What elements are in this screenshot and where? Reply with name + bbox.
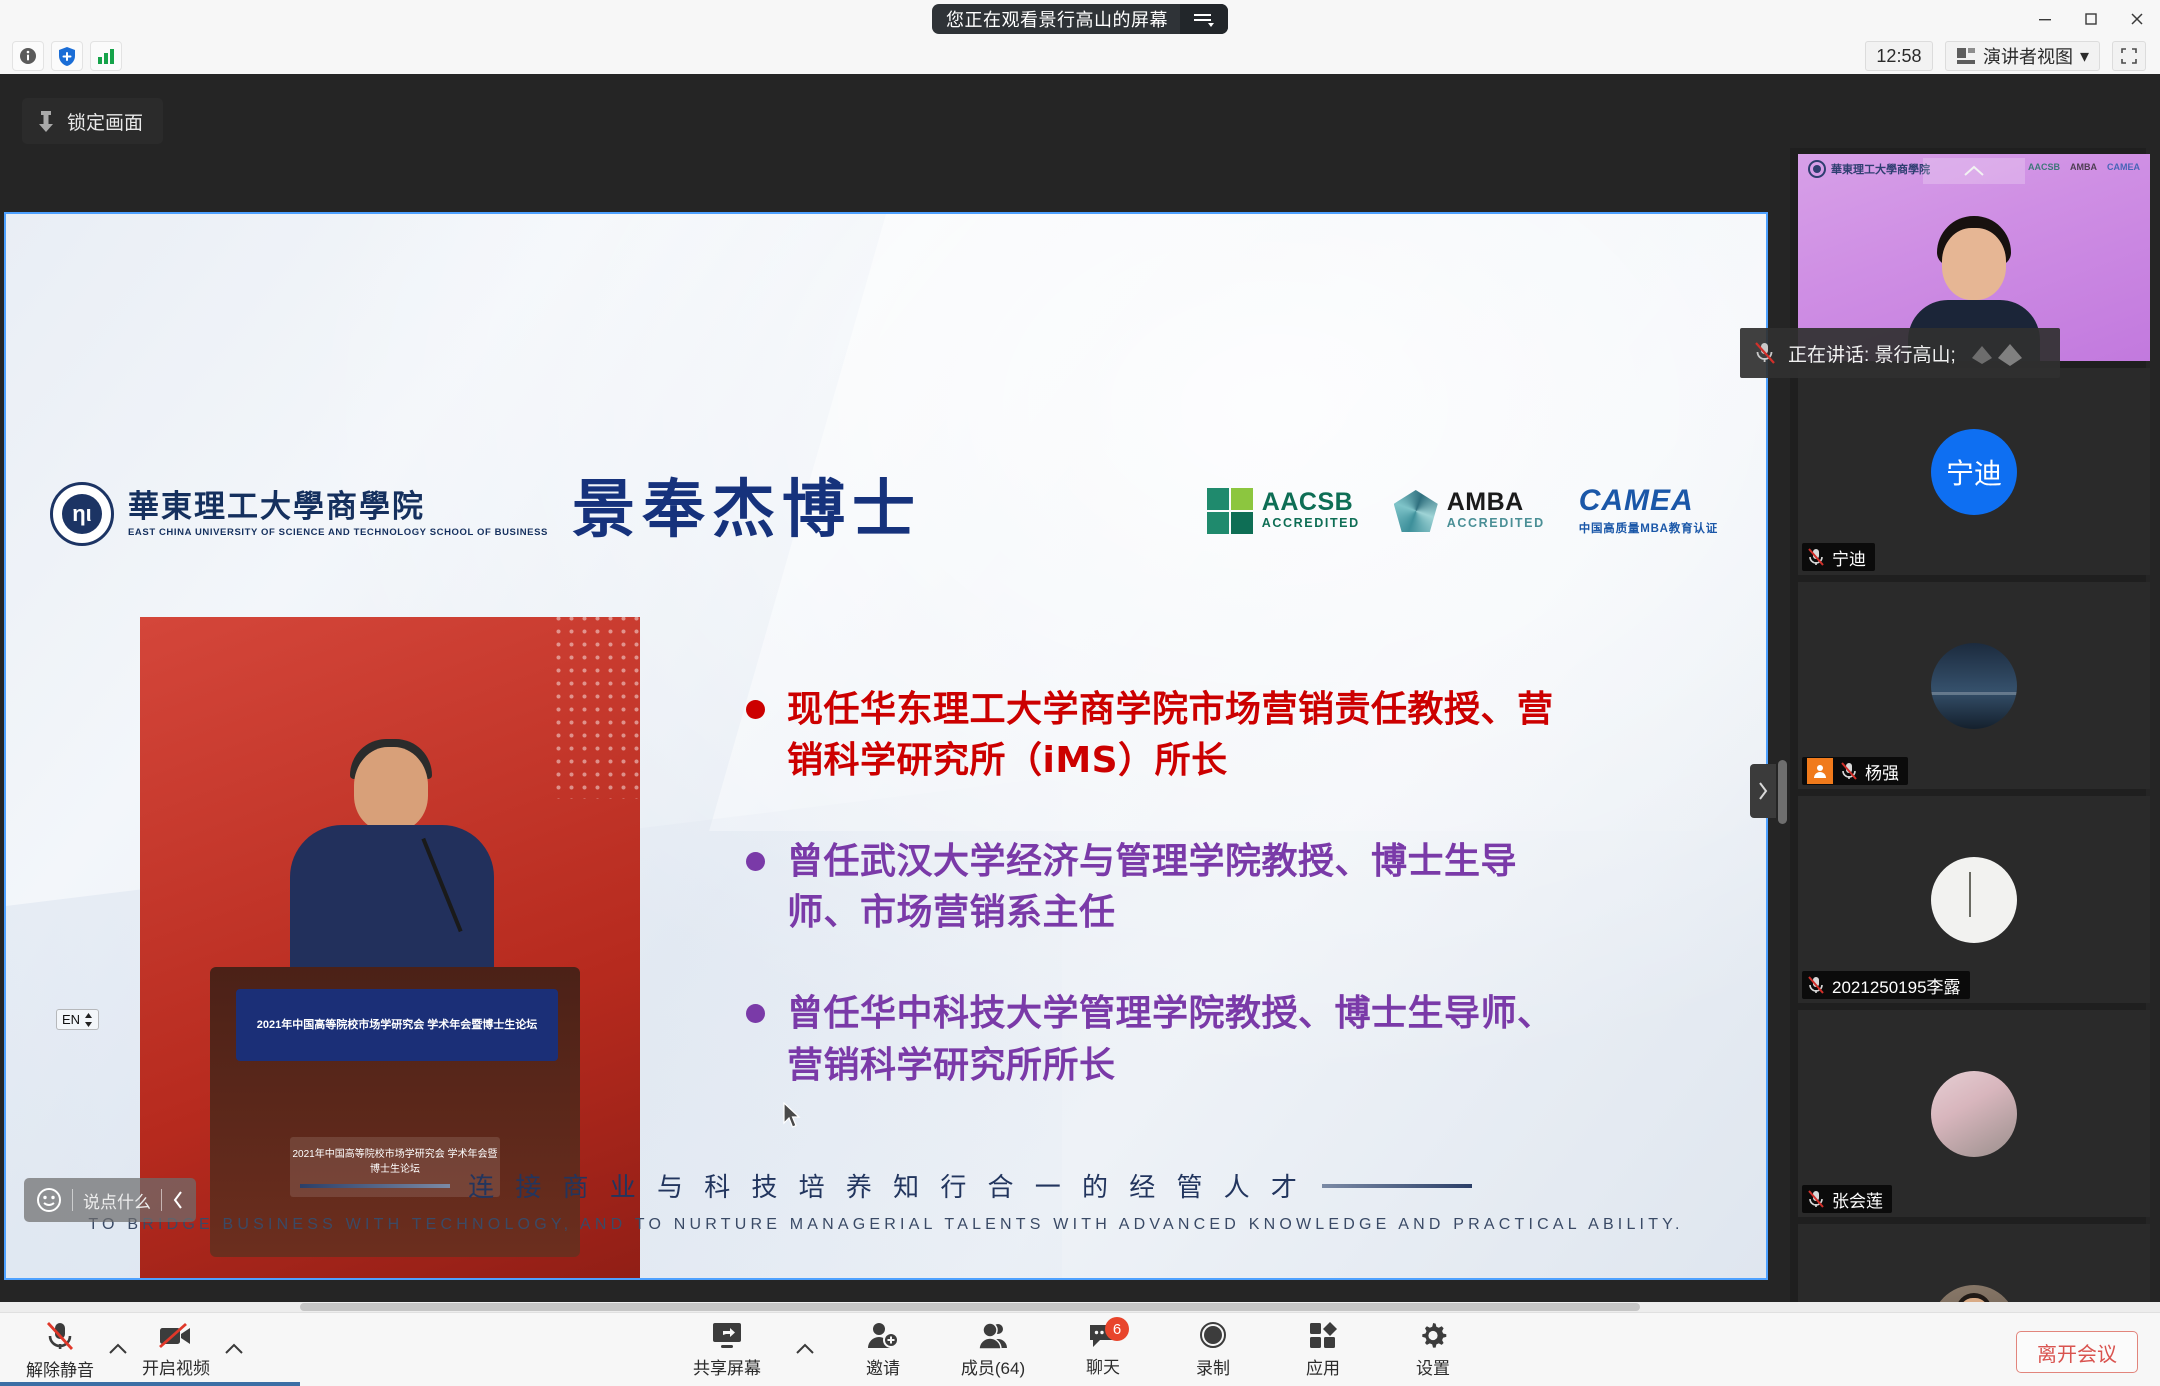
leave-meeting-label: 离开会议 (2037, 1338, 2117, 1367)
shield-plus-icon[interactable] (51, 41, 83, 71)
hamburger-menu-icon[interactable] (1180, 4, 1228, 34)
window-controls (2022, 0, 2160, 38)
chevron-left-icon (172, 1190, 184, 1210)
info-icon[interactable] (12, 41, 44, 71)
participant-namebar: 张会莲 (1802, 1185, 1892, 1213)
aacsb-mark-icon (1207, 488, 1253, 534)
amba-mark-icon (1394, 490, 1438, 532)
microphone-muted-icon (1807, 1189, 1825, 1209)
ime-language-indicator[interactable]: EN (56, 1009, 99, 1030)
vertical-scrollbar-thumb[interactable] (1778, 760, 1787, 824)
bullet-text: 曾任武汉大学经济与管理学院教授、博士生导师、市场营销系主任 (787, 836, 1566, 938)
amba-name: AMBA (1447, 490, 1545, 515)
chevron-down-icon[interactable]: ▾ (2080, 46, 2089, 67)
lock-screen-button[interactable]: 锁定画面 (22, 98, 163, 144)
school-logo: ηι 華東理工大學商學院 EAST CHINA UNIVERSITY OF SC… (50, 482, 548, 546)
start-video-button[interactable]: 开启视频 (134, 1315, 218, 1385)
fullscreen-icon[interactable] (2112, 41, 2146, 71)
presentation-slide: ηι 華東理工大學商學院 EAST CHINA UNIVERSITY OF SC… (6, 214, 1766, 1278)
chat-divider (72, 1189, 73, 1211)
amba-sub: ACCREDITED (1447, 515, 1545, 533)
slide-footer-cn-row: 连 接 商 业 与 科 技 培 养 知 行 合 一 的 经 管 人 才 (6, 1167, 1766, 1204)
chat-input-overlay[interactable]: 说点什么 (24, 1178, 196, 1222)
lock-screen-label: 锁定画面 (67, 108, 143, 135)
person-icon (1812, 763, 1828, 779)
slide-title: 景奉杰博士 (572, 459, 922, 550)
microphone-muted-icon (1840, 761, 1858, 781)
maximize-icon[interactable] (2068, 0, 2114, 38)
audio-wave-icon (1968, 340, 2038, 366)
participants-label: 成员(64) (961, 1354, 1025, 1379)
apps-icon (1307, 1321, 1339, 1351)
camea-name: CAMEA (1579, 486, 1718, 516)
participant-name: 杨强 (1865, 759, 1899, 784)
avatar-initials: 宁迪 (1946, 452, 2002, 492)
photo-person-head (354, 747, 428, 831)
view-mode-label: 演讲者视图 (1983, 43, 2073, 69)
control-bar-left: 解除静音 开启视频 (18, 1313, 244, 1386)
slide-bullet-item: 曾任华中科技大学管理学院教授、博士生导师、营销科学研究所所长 (746, 988, 1566, 1090)
record-button[interactable]: 录制 (1171, 1315, 1255, 1385)
horizontal-scrollbar[interactable] (0, 1302, 2160, 1312)
ime-updown-icon (84, 1013, 93, 1027)
toolbar-left-icons (12, 41, 122, 71)
school-name-cn: 華東理工大學商學院 (128, 490, 548, 524)
invite-label: 邀请 (866, 1354, 900, 1379)
chevron-up-icon[interactable] (1923, 158, 2025, 184)
slide-footer-en: TO BRIDGE BUSINESS WITH TECHNOLOGY, AND … (6, 1216, 1766, 1234)
active-speaker-text: 正在讲话: 景行高山; (1788, 340, 1956, 367)
avatar-image-blossom (1931, 1071, 2017, 1157)
participants-button[interactable]: 成员(64) (951, 1315, 1035, 1385)
participant-name: 宁迪 (1832, 545, 1866, 570)
apps-label: 应用 (1306, 1354, 1340, 1379)
chat-button[interactable]: 6 聊天 (1061, 1315, 1145, 1385)
active-speaker-tooltip: 正在讲话: 景行高山; (1740, 328, 2060, 378)
chat-input[interactable]: 说点什么 (83, 1188, 151, 1213)
photo-dot-pattern (552, 617, 640, 799)
unmute-button[interactable]: 解除静音 (18, 1315, 102, 1385)
settings-button[interactable]: 设置 (1391, 1315, 1475, 1385)
aacsb-name: AACSB (1262, 490, 1360, 515)
avatar (1931, 857, 2017, 943)
share-screen-button[interactable]: 共享屏幕 (685, 1315, 769, 1385)
video-bg-accreditations: AACSB AMBA CAMEA (2028, 162, 2140, 172)
avatar-image-horizon (1931, 692, 2017, 695)
avatar: 宁迪 (1931, 429, 2017, 515)
participant-name: 张会莲 (1832, 1187, 1883, 1212)
leave-meeting-button[interactable]: 离开会议 (2016, 1331, 2138, 1373)
control-bar-center: 共享屏幕 邀请 成 (685, 1313, 1475, 1386)
avatar-image-trunk (1969, 872, 1971, 917)
title-bar: 您正在观看景行高山的屏幕 (0, 0, 2160, 38)
meeting-control-bar: 解除静音 开启视频 (0, 1312, 2160, 1386)
video-bg-school-logo: 華東理工大學商學院 (1808, 160, 1930, 178)
avatar-image-sky (1931, 643, 2017, 729)
slide-bullet-item: 曾任武汉大学经济与管理学院教授、博士生导师、市场营销系主任 (746, 836, 1566, 938)
microphone-muted-icon (43, 1319, 77, 1353)
photo-banner-text: 2021年中国高等院校市场学研究会 学术年会暨博士生论坛 (236, 989, 558, 1061)
school-name-en: EAST CHINA UNIVERSITY OF SCIENCE AND TEC… (128, 527, 548, 538)
host-badge (1807, 758, 1833, 784)
ime-language-label: EN (62, 1012, 80, 1027)
share-screen-icon (710, 1321, 744, 1351)
video-muted-icon (156, 1321, 196, 1351)
footer-rule-left (300, 1184, 450, 1188)
footer-rule-right (1322, 1184, 1472, 1188)
accreditation-logos: AACSB ACCREDITED AMBA ACCREDITED CA (1207, 486, 1718, 536)
camea-logo: CAMEA 中国高质量MBA教育认证 (1579, 486, 1718, 536)
slide-bullet-list: 现任华东理工大学商学院市场营销责任教授、营销科学研究所（iMS）所长 曾任武汉大… (746, 684, 1566, 1141)
horizontal-scrollbar-thumb[interactable] (300, 1303, 1640, 1311)
toolbar-right-controls: 12:58 演讲者视图 ▾ (1865, 41, 2146, 71)
microphone-muted-icon (1807, 547, 1825, 567)
unmute-label: 解除静音 (26, 1356, 94, 1381)
amba-logo: AMBA ACCREDITED (1394, 490, 1545, 533)
slide-bullet-item: 现任华东理工大学商学院市场营销责任教授、营销科学研究所（iMS）所长 (746, 684, 1566, 786)
bullet-dot-icon (746, 852, 765, 871)
microphone-muted-icon (1807, 975, 1825, 995)
chat-unread-badge: 6 (1105, 1317, 1129, 1341)
meeting-workspace: 锁定画面 ηι 華東理工大學商學院 EAST CHINA UNIVERSITY … (0, 74, 2160, 1312)
chat-divider (161, 1189, 162, 1211)
meeting-clock: 12:58 (1865, 41, 1933, 71)
school-logo-mark: ηι (50, 482, 114, 546)
gear-icon (1417, 1321, 1449, 1351)
apps-button[interactable]: 应用 (1281, 1315, 1365, 1385)
aacsb-sub: ACCREDITED (1262, 515, 1360, 533)
close-icon[interactable] (2114, 0, 2160, 38)
bullet-dot-icon (746, 1004, 765, 1023)
avatar (1931, 643, 2017, 729)
screen-share-notice-text: 您正在观看景行高山的屏幕 (946, 6, 1180, 32)
avatar (1931, 1071, 2017, 1157)
chat-label: 聊天 (1086, 1353, 1120, 1378)
minimize-icon[interactable] (2022, 0, 2068, 38)
taskbar-accent (0, 1382, 300, 1386)
camea-sub: 中国高质量MBA教育认证 (1579, 520, 1718, 536)
invite-button[interactable]: 邀请 (841, 1315, 925, 1385)
settings-label: 设置 (1416, 1354, 1450, 1379)
share-options-caret[interactable] (795, 1315, 815, 1385)
bullet-dot-icon (746, 700, 765, 719)
chevron-right-icon (1757, 781, 1769, 801)
participant-tile[interactable]: 杨强 (1798, 582, 2150, 789)
bullet-text: 现任华东理工大学商学院市场营销责任教授、营销科学研究所（iMS）所长 (787, 684, 1566, 786)
share-screen-label: 共享屏幕 (693, 1354, 761, 1379)
audio-options-caret[interactable] (108, 1315, 128, 1385)
speaker-head (1942, 228, 2006, 300)
bar-chart-icon[interactable] (90, 41, 122, 71)
slide-footer-cn: 连 接 商 业 与 科 技 培 养 知 行 合 一 的 经 管 人 才 (468, 1167, 1304, 1204)
participant-name: 2021250195李露 (1832, 973, 1961, 998)
participant-tile[interactable]: 张会莲 (1798, 1010, 2150, 1217)
screen-share-notice[interactable]: 您正在观看景行高山的屏幕 (932, 4, 1228, 34)
record-label: 录制 (1196, 1354, 1230, 1379)
participant-namebar: 2021250195李露 (1802, 971, 1970, 999)
invite-person-icon (866, 1321, 900, 1351)
participants-icon (976, 1321, 1010, 1351)
view-mode-selector[interactable]: 演讲者视图 ▾ (1945, 41, 2100, 71)
video-options-caret[interactable] (224, 1315, 244, 1385)
aacsb-logo: AACSB ACCREDITED (1207, 488, 1360, 534)
pin-icon (36, 109, 56, 133)
start-video-label: 开启视频 (142, 1354, 210, 1379)
meeting-toolbar: 12:58 演讲者视图 ▾ (0, 38, 2160, 74)
participant-namebar: 宁迪 (1802, 543, 1875, 571)
avatar-image-tree (1931, 857, 2017, 943)
mouse-cursor (782, 1102, 802, 1130)
participant-tile[interactable]: 2021250195李露 (1798, 796, 2150, 1003)
bullet-text: 曾任华中科技大学管理学院教授、博士生导师、营销科学研究所所长 (787, 988, 1566, 1090)
collapse-panel-button[interactable] (1750, 764, 1776, 818)
emoji-smiley-icon (36, 1187, 62, 1213)
record-icon (1197, 1321, 1229, 1351)
microphone-icon (1754, 341, 1776, 365)
participant-namebar: 杨强 (1802, 757, 1908, 785)
shared-screen-area[interactable]: ηι 華東理工大學商學院 EAST CHINA UNIVERSITY OF SC… (4, 212, 1768, 1280)
speaker-view-icon (1956, 46, 1976, 66)
school-logo-glyph: ηι (62, 494, 102, 534)
slide-footer: 连 接 商 业 与 科 技 培 养 知 行 合 一 的 经 管 人 才 TO B… (6, 1167, 1766, 1234)
zoom-meeting-window: 您正在观看景行高山的屏幕 (0, 0, 2160, 1386)
participant-tile[interactable]: 宁迪 宁迪 (1798, 368, 2150, 575)
